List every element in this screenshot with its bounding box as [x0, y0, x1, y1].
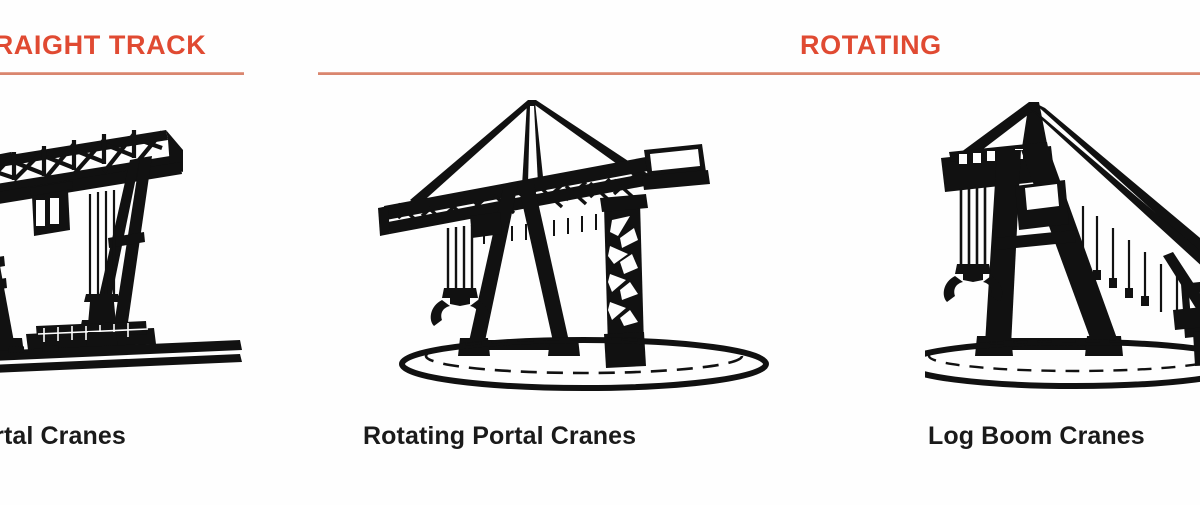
category-divider-left — [0, 72, 244, 75]
category-divider-right — [318, 72, 1200, 75]
infographic-canvas: STRAIGHT TRACK ROTATING — [0, 0, 1200, 505]
item-caption-log-boom-cranes: Log Boom Cranes — [928, 421, 1145, 451]
portal-crane-illustration — [0, 88, 260, 398]
rotating-portal-crane-icon — [372, 88, 797, 398]
portal-crane-icon — [0, 88, 260, 398]
log-boom-crane-icon — [925, 88, 1200, 398]
category-heading-straight-track: STRAIGHT TRACK — [0, 30, 206, 60]
log-boom-crane-illustration — [925, 88, 1200, 398]
item-caption-portal-cranes: Portal Cranes — [0, 421, 126, 451]
category-heading-rotating: ROTATING — [800, 30, 942, 60]
item-caption-rotating-portal-cranes: Rotating Portal Cranes — [363, 421, 636, 451]
rotating-portal-crane-illustration — [372, 88, 797, 398]
